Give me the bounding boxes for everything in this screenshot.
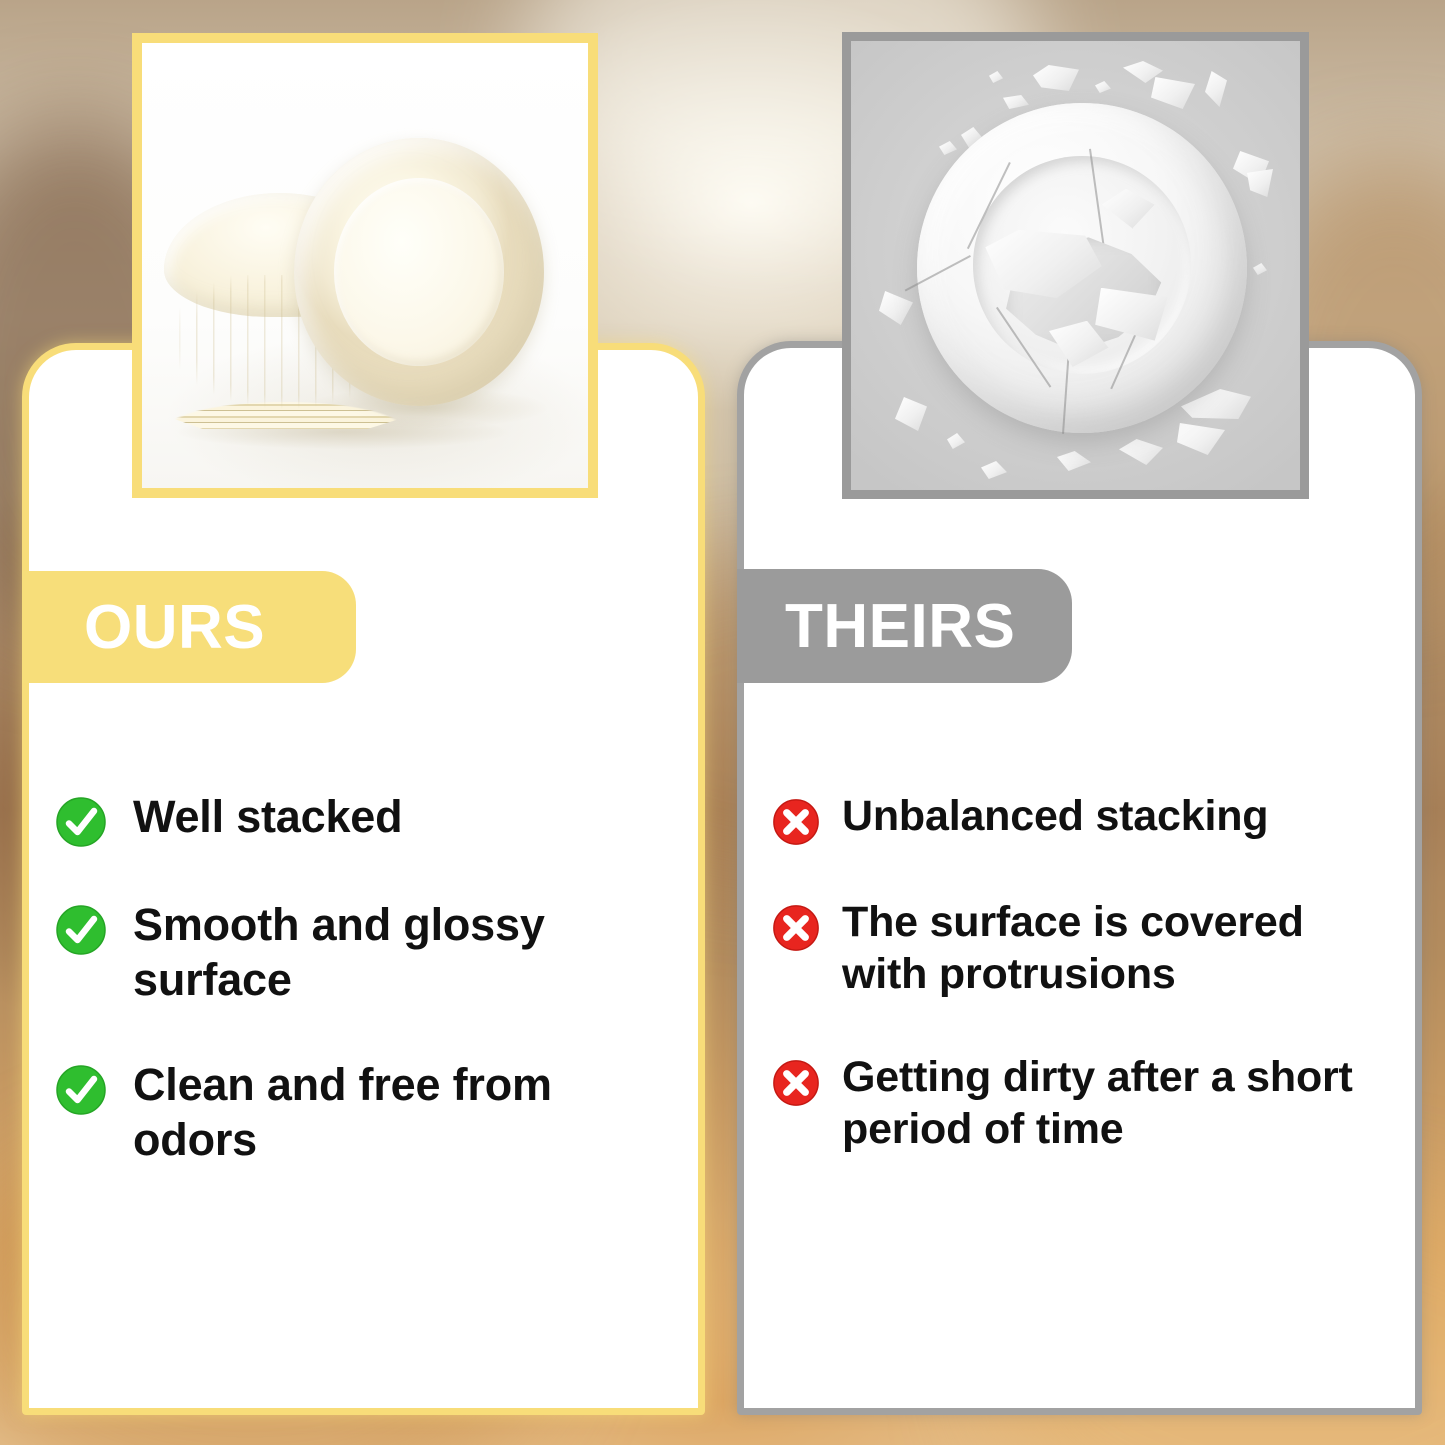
stacked-scalloped-cream-plates-photo: [142, 43, 588, 488]
plate-shard: [1177, 423, 1225, 455]
comparison-infographic: OURS Well stacked Smooth and glossy s: [0, 0, 1445, 1445]
list-item: Well stacked: [55, 790, 675, 848]
theirs-label-tag: THEIRS: [737, 569, 1072, 683]
plate-shard: [1205, 71, 1227, 107]
ours-feature-list: Well stacked Smooth and glossy surface: [55, 790, 675, 1168]
ours-label-tag: OURS: [22, 571, 356, 683]
list-item: Unbalanced stacking: [772, 790, 1397, 846]
cross-circle-icon: [772, 904, 820, 952]
plate-shard: [1151, 77, 1195, 109]
list-item-label: Unbalanced stacking: [842, 790, 1268, 842]
plate-shard: [939, 141, 957, 155]
plate-crack: [904, 255, 970, 292]
check-circle-icon: [55, 796, 107, 848]
list-item-label: Well stacked: [133, 790, 402, 845]
plate-shard: [879, 291, 913, 325]
list-item: The surface is covered with protrusions: [772, 896, 1397, 1001]
plate-shard: [1247, 169, 1273, 197]
check-circle-icon: [55, 904, 107, 956]
plate-shard: [981, 461, 1007, 479]
list-item: Clean and free from odors: [55, 1058, 675, 1168]
plate-shard: [1253, 263, 1267, 275]
plate-shard: [895, 397, 927, 431]
broken-plate: [917, 103, 1247, 433]
cross-circle-icon: [772, 1059, 820, 1107]
plate-shard: [947, 433, 965, 449]
theirs-product-image-panel: [842, 32, 1309, 499]
check-circle-icon: [55, 1064, 107, 1116]
plate-inner-well: [334, 178, 504, 366]
cross-circle-icon: [772, 798, 820, 846]
front-scalloped-plate: [294, 138, 544, 406]
list-item-label: Smooth and glossy surface: [133, 898, 675, 1008]
ours-product-image-panel: [132, 33, 598, 498]
plate-shard: [1033, 65, 1079, 91]
list-item: Smooth and glossy surface: [55, 898, 675, 1008]
plate-shard: [989, 71, 1003, 83]
list-item-label: Clean and free from odors: [133, 1058, 675, 1168]
shattered-white-plate-photo: [851, 41, 1300, 490]
plate-shard: [1095, 81, 1111, 93]
list-item: Getting dirty after a short period of ti…: [772, 1051, 1397, 1156]
plate-shard: [1119, 439, 1163, 465]
list-item-label: The surface is covered with protrusions: [842, 896, 1397, 1001]
list-item-label: Getting dirty after a short period of ti…: [842, 1051, 1397, 1156]
plate-shard: [1057, 451, 1091, 471]
plate-shard: [1181, 389, 1251, 419]
plate-shard: [1003, 95, 1029, 109]
theirs-feature-list: Unbalanced stacking The surface is cover…: [772, 790, 1397, 1156]
